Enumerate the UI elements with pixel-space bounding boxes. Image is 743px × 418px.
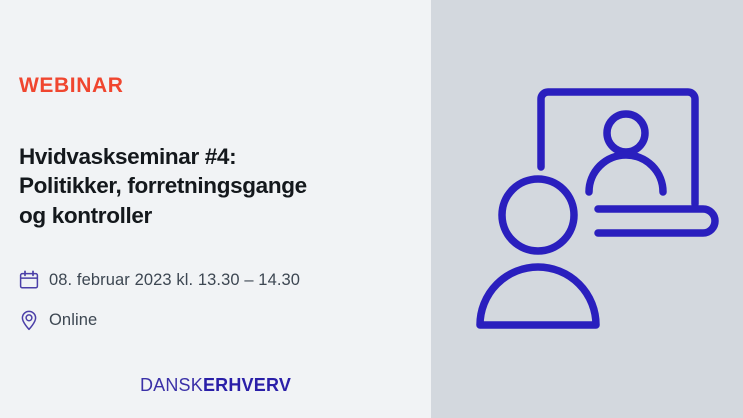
event-location-row: Online xyxy=(18,306,418,334)
foreground-person-head xyxy=(502,179,574,251)
laptop-base xyxy=(598,209,715,233)
calendar-icon xyxy=(18,269,40,291)
card-illustration-panel xyxy=(431,0,743,418)
card-content-panel: WEBINAR Hvidvaskseminar #4: Politikker, … xyxy=(0,0,431,418)
webinar-event-card: WEBINAR Hvidvaskseminar #4: Politikker, … xyxy=(0,0,743,418)
person-on-screen-body xyxy=(589,155,663,192)
person-on-screen-head xyxy=(607,114,645,152)
category-label-webinar: WEBINAR xyxy=(19,75,124,96)
logo-word-dansk: DANSK xyxy=(140,375,203,395)
event-date-text: 08. februar 2023 kl. 13.30 – 14.30 xyxy=(49,272,300,289)
logo-word-erhverv: ERHVERV xyxy=(203,375,291,395)
webinar-video-call-illustration xyxy=(431,0,743,418)
dansk-erhverv-logo: DANSKERHVERV xyxy=(0,376,431,395)
foreground-person-body xyxy=(480,267,596,325)
event-date-row: 08. februar 2023 kl. 13.30 – 14.30 xyxy=(18,266,418,294)
event-meta-list: 08. februar 2023 kl. 13.30 – 14.30 Onlin… xyxy=(18,266,418,346)
event-location-text: Online xyxy=(49,312,97,329)
event-title: Hvidvaskseminar #4: Politikker, forretni… xyxy=(19,142,411,230)
map-pin-icon xyxy=(18,309,40,331)
